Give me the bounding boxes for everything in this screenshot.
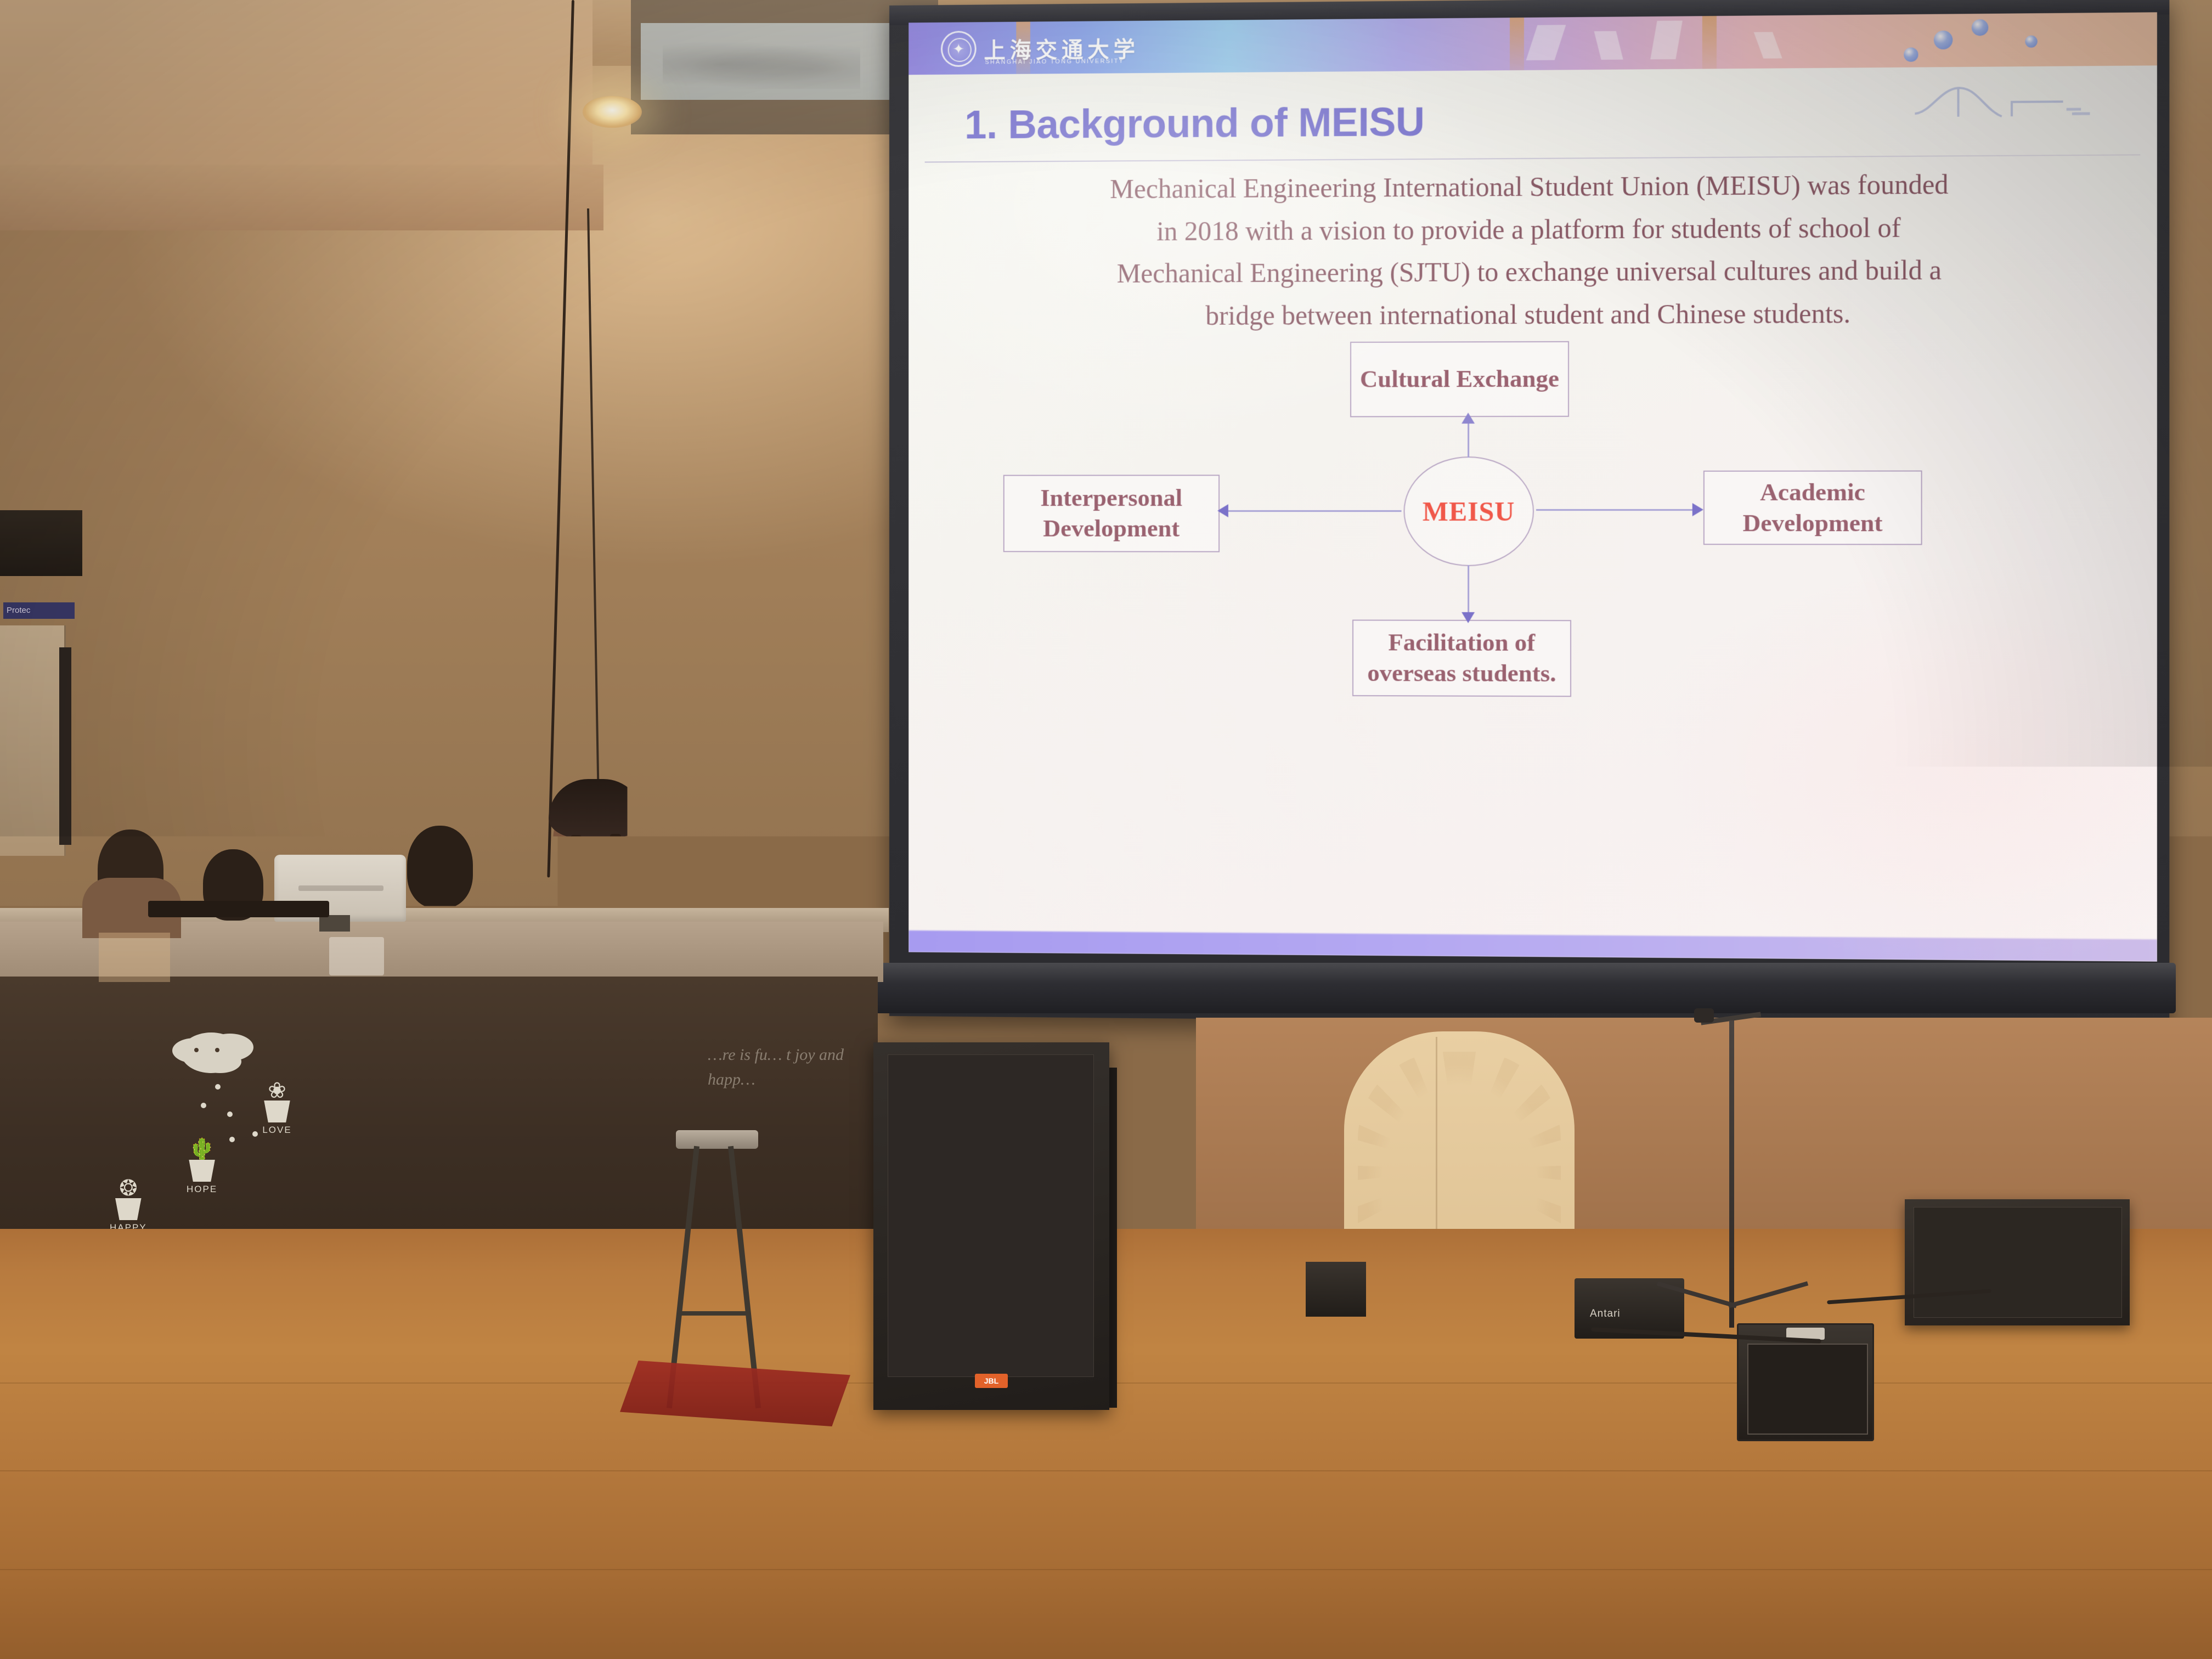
raindrop-icon bbox=[201, 1103, 206, 1108]
floor-plank-line bbox=[0, 1470, 2212, 1471]
raindrop-icon bbox=[229, 1137, 235, 1142]
plant-pot-icon bbox=[187, 1160, 217, 1182]
floor-equipment-box bbox=[1306, 1262, 1366, 1317]
meisu-diagram: Cultural Exchange Interpersonal Developm… bbox=[909, 340, 2157, 927]
balloon-icon bbox=[2025, 35, 2037, 47]
arrow-right-icon bbox=[1692, 503, 1703, 516]
wall-decal-label: LOVE bbox=[262, 1125, 292, 1136]
desk-item bbox=[99, 933, 170, 982]
fog-machine-label: Antari bbox=[1590, 1308, 1621, 1320]
sjtu-seal-icon bbox=[941, 31, 977, 67]
diagram-node-cultural: Cultural Exchange bbox=[1350, 341, 1569, 417]
confetti-shard-icon bbox=[1650, 21, 1683, 60]
shirt-placket bbox=[592, 933, 596, 1273]
slide-title: 1. Background of MEISU bbox=[964, 98, 1425, 148]
raindrop-icon bbox=[215, 1084, 221, 1090]
mic-stand-pole bbox=[1729, 1020, 1734, 1328]
university-name-en: SHANGHAI JIAO TONG UNIVERSITY bbox=[985, 58, 1124, 66]
wall-box-label-text: Protec bbox=[3, 606, 30, 615]
wall-upper-left bbox=[0, 0, 592, 181]
keyboard bbox=[148, 901, 329, 917]
connector-up bbox=[1468, 418, 1469, 458]
slide-footer-band bbox=[909, 930, 2157, 962]
connector-down bbox=[1468, 565, 1469, 620]
presenter-mouth bbox=[585, 866, 609, 873]
diagram-center-node: MEISU bbox=[1404, 456, 1534, 566]
ceiling-panel bbox=[641, 23, 921, 100]
connector-left bbox=[1227, 510, 1402, 512]
confetti-shard-icon bbox=[1594, 31, 1623, 60]
wall-upper-left-shadow bbox=[0, 165, 603, 230]
slide-body-line: Mechanical Engineering (SJTU) to exchang… bbox=[951, 248, 2114, 295]
slide-body-line: Mechanical Engineering International Stu… bbox=[951, 162, 2114, 211]
arrow-down-icon bbox=[1462, 612, 1475, 623]
raindrop-icon bbox=[252, 1131, 258, 1137]
floor-plank-line bbox=[0, 1569, 2212, 1570]
photo-scene: Protec 上海交通大学 SHANGHAI JIAO TONG bbox=[0, 0, 2212, 1659]
balloon-icon bbox=[1904, 47, 1918, 61]
slide-body-line: bridge between international student and… bbox=[951, 291, 2114, 338]
presenter-hand-holding-mic bbox=[590, 1141, 643, 1207]
slide-body-line: in 2018 with a vision to provide a platf… bbox=[951, 205, 2114, 253]
wall-equipment-box bbox=[0, 510, 82, 576]
title-divider bbox=[925, 154, 2141, 162]
slide-body-text: Mechanical Engineering International Stu… bbox=[951, 162, 2114, 337]
stage-monitor-speaker bbox=[1905, 1199, 2130, 1325]
wall-box-label: Protec bbox=[3, 602, 75, 619]
speaker-brand-badge: JBL bbox=[975, 1374, 1008, 1388]
diagram-node-facilitation: Facilitation of overseas students. bbox=[1352, 619, 1571, 697]
wave-decoration-icon bbox=[1914, 77, 2097, 122]
presenter-hair bbox=[549, 779, 643, 838]
presenter bbox=[417, 768, 779, 1659]
balloon-icon bbox=[1972, 19, 1988, 36]
arrow-up-icon bbox=[1462, 413, 1475, 424]
side-cabinet bbox=[0, 625, 66, 856]
arrow-left-icon bbox=[1217, 504, 1228, 517]
slide-surface: 上海交通大学 SHANGHAI JIAO TONG UNIVERSITY 1. … bbox=[909, 12, 2157, 961]
speaker-grill bbox=[888, 1054, 1094, 1377]
wall-decal-happy: ❂ HAPPY bbox=[110, 1178, 147, 1233]
confetti-shard-icon bbox=[1754, 32, 1782, 58]
ribbon-decoration-icon bbox=[1510, 18, 1524, 70]
cloud-with-face-icon bbox=[181, 1032, 241, 1073]
cactus-icon: 🌵 bbox=[187, 1140, 217, 1160]
wall-decal-label: HOPE bbox=[187, 1184, 217, 1195]
connector-right bbox=[1536, 509, 1701, 511]
presenter-shoe bbox=[489, 1591, 605, 1637]
diagram-node-interpersonal: Interpersonal Development bbox=[1003, 475, 1220, 552]
slide-header-band: 上海交通大学 SHANGHAI JIAO TONG UNIVERSITY bbox=[909, 12, 2157, 75]
desk-item bbox=[329, 937, 384, 975]
plant-pot-icon bbox=[262, 1101, 292, 1122]
jbl-speaker: JBL bbox=[873, 1042, 1109, 1410]
projection-screen-frame: 上海交通大学 SHANGHAI JIAO TONG UNIVERSITY 1. … bbox=[889, 0, 2169, 1027]
raindrop-icon bbox=[227, 1111, 233, 1117]
ceiling-spotlight-icon bbox=[583, 96, 642, 128]
monitor-stand bbox=[319, 915, 350, 932]
plant-pot-icon bbox=[114, 1198, 143, 1220]
pants-inseam bbox=[592, 1399, 601, 1596]
balloon-icon bbox=[1934, 31, 1953, 50]
ribbon-decoration-icon bbox=[1702, 16, 1717, 69]
confetti-shard-icon bbox=[1526, 25, 1566, 60]
wall-decal-hope: 🌵 HOPE bbox=[187, 1140, 217, 1195]
wall-decal-love: ❀ LOVE bbox=[262, 1081, 292, 1136]
potted-plant-icon: ❂ bbox=[110, 1178, 147, 1198]
side-cabinet-door bbox=[59, 647, 71, 845]
mic-clip-icon bbox=[1694, 1008, 1714, 1023]
screen-roller-bar bbox=[872, 963, 2176, 1013]
potted-plant-icon: ❀ bbox=[262, 1081, 292, 1101]
diagram-node-academic: Academic Development bbox=[1703, 471, 1922, 545]
